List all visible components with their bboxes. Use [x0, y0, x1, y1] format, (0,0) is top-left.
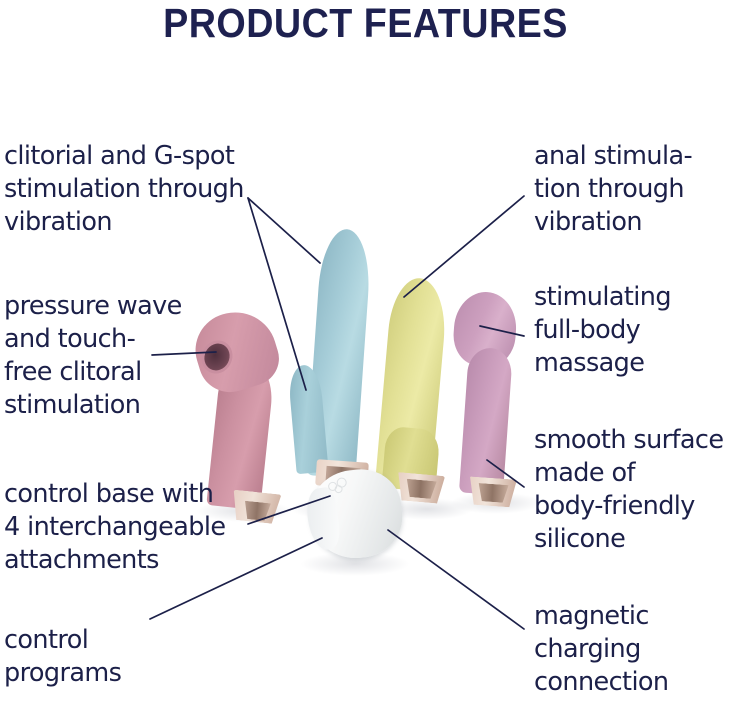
callout-smooth-surface: smooth surface made of body-friendly sil… [534, 424, 731, 557]
white-control-base [306, 466, 410, 566]
callout-full-body-massage: stimulating full-body massage [534, 281, 731, 380]
callout-pressure-wave: pressure wave and touch- free clitoral s… [4, 290, 204, 423]
callout-clitoral-g-spot: clitorial and G-spot stimulation through… [4, 140, 266, 239]
mauve-device-neck [459, 347, 513, 496]
callout-anal-stimulation: anal stimula- tion through vibration [534, 140, 731, 239]
callout-control-programs: control programs [4, 624, 204, 690]
mauve-wand-attachment [446, 292, 530, 510]
infographic-canvas: PRODUCT FEATURES [0, 0, 731, 702]
page-title: PRODUCT FEATURES [29, 0, 702, 47]
callout-control-base: control base with 4 interchangeable atta… [4, 478, 266, 577]
callout-magnetic-charging: magnetic charging connection [534, 600, 731, 699]
